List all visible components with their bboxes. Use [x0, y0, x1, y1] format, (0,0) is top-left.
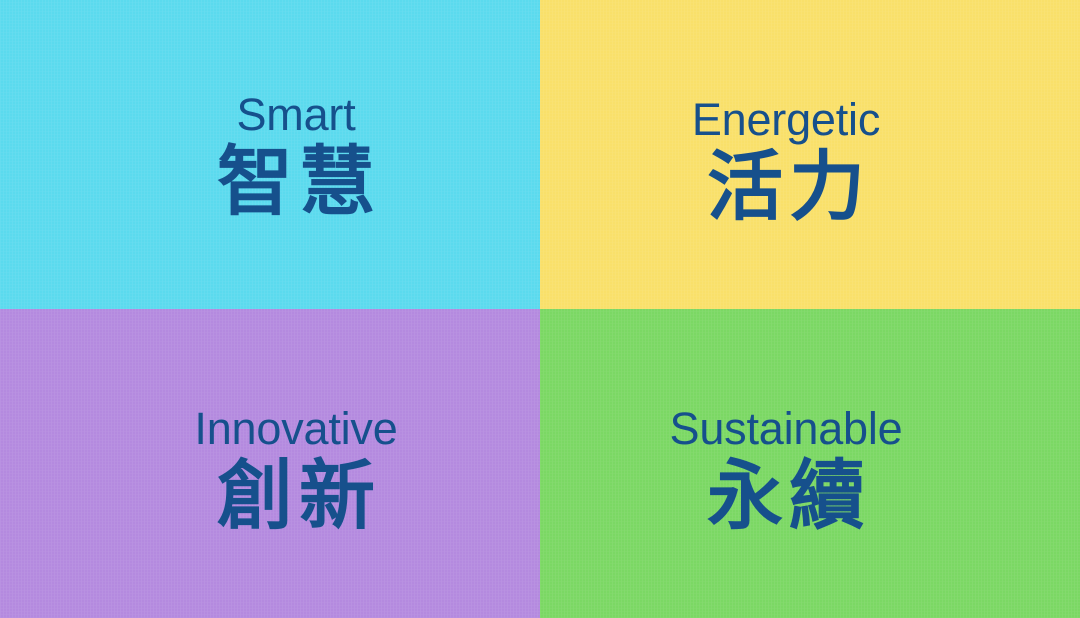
- brand-values-grid: Smart 智慧 Energetic 活力 Innovative 創新 Sust…: [0, 0, 1080, 618]
- tile-label-english: Sustainable: [670, 406, 903, 451]
- tile-label-chinese: 永續: [701, 457, 871, 535]
- tile-label-chinese: 智慧: [211, 143, 381, 221]
- tile-label-chinese: 創新: [211, 457, 381, 535]
- tile-innovative[interactable]: Innovative 創新: [0, 309, 540, 618]
- tile-sustainable[interactable]: Sustainable 永續: [540, 309, 1080, 618]
- tile-label-english: Energetic: [692, 97, 880, 142]
- tile-smart[interactable]: Smart 智慧: [0, 0, 540, 309]
- tile-text-stack: Innovative 創新: [194, 406, 397, 535]
- tile-text-stack: Smart 智慧: [211, 92, 381, 221]
- tile-label-english: Smart: [236, 92, 355, 137]
- tile-energetic[interactable]: Energetic 活力: [540, 0, 1080, 309]
- tile-label-chinese: 活力: [701, 148, 871, 226]
- tile-label-english: Innovative: [194, 406, 397, 451]
- tile-text-stack: Energetic 活力: [692, 97, 880, 226]
- tile-text-stack: Sustainable 永續: [670, 406, 903, 535]
